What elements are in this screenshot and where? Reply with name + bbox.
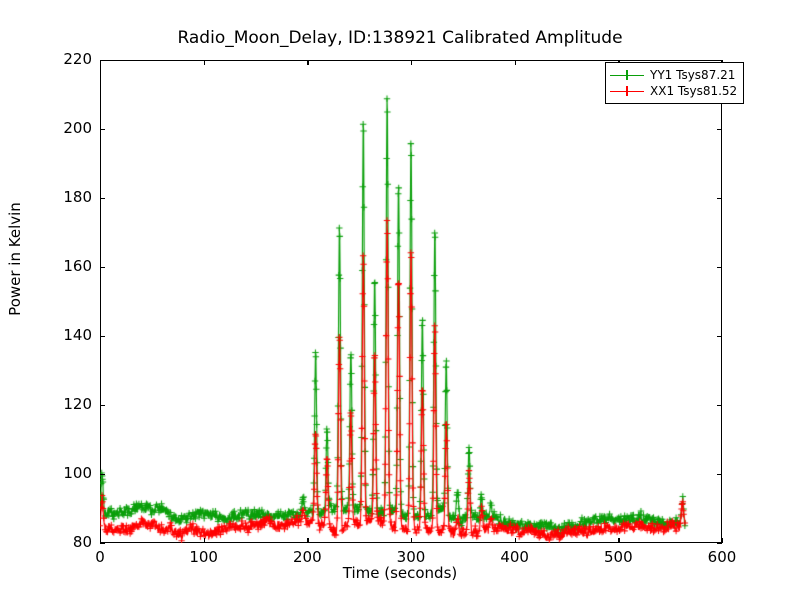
y-tick-mark [100, 267, 105, 268]
y-tick-mark [717, 336, 722, 337]
legend-label-yy1: YY1 Tsys87.21 [650, 68, 735, 82]
legend-label-xx1: XX1 Tsys81.52 [650, 84, 737, 98]
x-tick-mark [515, 538, 516, 543]
x-tick-mark [100, 60, 101, 65]
y-tick-mark [100, 543, 105, 544]
y-tick-label: 100 [2, 464, 92, 482]
x-tick-mark [722, 538, 723, 543]
x-tick-mark [100, 538, 101, 543]
legend: YY1 Tsys87.21 XX1 Tsys81.52 [605, 62, 744, 104]
y-tick-mark [100, 474, 105, 475]
y-tick-mark [100, 129, 105, 130]
plot-data-region [100, 60, 722, 543]
y-tick-mark [717, 198, 722, 199]
y-tick-mark [717, 267, 722, 268]
page-title: Radio_Moon_Delay, ID:138921 Calibrated A… [0, 28, 800, 48]
x-tick-mark [307, 60, 308, 65]
legend-item: YY1 Tsys87.21 [610, 67, 737, 83]
y-tick-mark [717, 129, 722, 130]
x-tick-mark [204, 60, 205, 65]
y-tick-mark [100, 198, 105, 199]
x-axis-label: Time (seconds) [0, 564, 800, 582]
x-tick-mark [515, 60, 516, 65]
x-tick-mark [411, 60, 412, 65]
figure-canvas: Radio_Moon_Delay, ID:138921 Calibrated A… [0, 0, 800, 600]
x-tick-mark [204, 538, 205, 543]
y-tick-mark [717, 543, 722, 544]
y-tick-mark [717, 405, 722, 406]
x-tick-mark [618, 538, 619, 543]
x-tick-mark [411, 538, 412, 543]
legend-swatch-yy1 [610, 68, 644, 82]
legend-swatch-xx1 [610, 84, 644, 98]
series-canvas [100, 60, 722, 543]
y-tick-mark [100, 405, 105, 406]
y-tick-label: 220 [2, 50, 92, 68]
y-tick-mark [100, 336, 105, 337]
x-tick-mark [307, 538, 308, 543]
y-axis-label: Power in Kelvin [6, 89, 24, 429]
y-tick-mark [717, 474, 722, 475]
legend-item: XX1 Tsys81.52 [610, 83, 737, 99]
